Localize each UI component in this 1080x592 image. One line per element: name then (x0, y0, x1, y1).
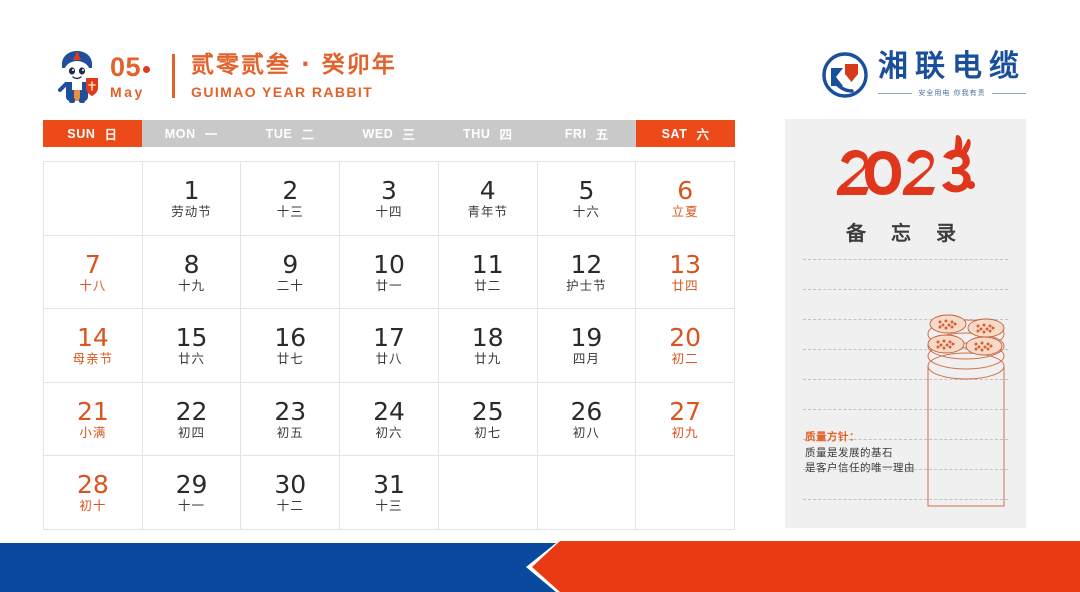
day-number: 1 (184, 178, 200, 203)
calendar-cell-empty (636, 456, 735, 530)
company-logo-group: 湘联电缆 安全用电 你我有责 (822, 52, 1026, 98)
day-number: 18 (472, 325, 504, 350)
calendar-day-cell[interactable]: 25初七 (439, 383, 538, 457)
weekday-header-sat: SAT六 (636, 120, 735, 147)
day-number: 13 (669, 252, 701, 277)
day-lunar-label: 十六 (573, 206, 600, 219)
calendar-cell-empty (439, 456, 538, 530)
calendar-day-cell[interactable]: 28初十 (44, 456, 143, 530)
calendar-day-cell[interactable]: 26初八 (538, 383, 637, 457)
day-number: 9 (282, 252, 298, 277)
year-title-cn: 贰零贰叁 · 癸卯年 (191, 54, 397, 77)
day-lunar-label: 护士节 (566, 280, 607, 293)
day-lunar-label: 青年节 (467, 206, 508, 219)
calendar-day-cell[interactable]: 14母亲节 (44, 309, 143, 383)
calendar-day-cell[interactable]: 31十三 (340, 456, 439, 530)
day-lunar-label: 廿一 (375, 280, 402, 293)
day-number: 26 (571, 399, 603, 424)
month-block: 05 May (110, 54, 150, 99)
calendar-day-cell[interactable]: 27初九 (636, 383, 735, 457)
day-number: 30 (274, 472, 306, 497)
day-lunar-label: 初七 (474, 427, 501, 440)
calendar-day-cell[interactable]: 15廿六 (143, 309, 242, 383)
weekday-header-sun: SUN日 (43, 120, 142, 147)
day-number: 4 (480, 178, 496, 203)
day-lunar-label: 二十 (277, 280, 304, 293)
page-header: 05 May 贰零贰叁 · 癸卯年 GUIMAO YEAR RABBIT 湘联电… (0, 0, 1080, 118)
day-number: 2 (282, 178, 298, 203)
day-lunar-label: 初十 (79, 500, 106, 513)
day-number: 7 (85, 252, 101, 277)
calendar-day-cell[interactable]: 18廿九 (439, 309, 538, 383)
memo-panel: 备 忘 录 (785, 119, 1026, 528)
day-lunar-label: 廿二 (474, 280, 501, 293)
memo-ruled-line[interactable] (803, 259, 1008, 289)
weekday-cn: 五 (596, 124, 609, 143)
day-number: 25 (472, 399, 504, 424)
day-lunar-label: 十九 (178, 280, 205, 293)
calendar: SUN日MON一TUE二WED三THU四FRI五SAT六 1劳动节2十三3十四4… (43, 120, 735, 530)
quality-policy-line-1: 质量是发展的基石 (805, 446, 915, 461)
calendar-day-grid: 1劳动节2十三3十四4青年节5十六6立夏7十八8十九9二十10廿一11廿二12护… (43, 161, 735, 530)
weekday-en: THU (463, 127, 491, 141)
weekday-cn: 三 (402, 124, 415, 143)
day-lunar-label: 十二 (277, 500, 304, 513)
memo-title: 备 忘 录 (785, 217, 1026, 246)
title-block: 贰零贰叁 · 癸卯年 GUIMAO YEAR RABBIT (191, 54, 397, 99)
weekday-cn: 一 (205, 124, 218, 143)
day-number: 15 (176, 325, 208, 350)
calendar-day-cell[interactable]: 9二十 (241, 236, 340, 310)
day-lunar-label: 十一 (178, 500, 205, 513)
weekday-cn: 二 (301, 124, 314, 143)
day-number: 24 (373, 399, 405, 424)
day-number: 23 (274, 399, 306, 424)
weekday-header-mon: MON一 (142, 120, 241, 147)
day-number: 10 (373, 252, 405, 277)
weekday-header-wed: WED三 (340, 120, 439, 147)
day-number: 27 (669, 399, 701, 424)
day-lunar-label: 初八 (573, 427, 600, 440)
weekday-header-row: SUN日MON一TUE二WED三THU四FRI五SAT六 (43, 120, 735, 147)
day-number: 8 (184, 252, 200, 277)
slogan-rule-right (992, 93, 1026, 94)
weekday-header-thu: THU四 (438, 120, 537, 147)
day-number: 22 (176, 399, 208, 424)
day-number: 11 (472, 252, 504, 277)
day-number: 6 (677, 178, 693, 203)
calendar-day-cell[interactable]: 19四月 (538, 309, 637, 383)
company-slogan: 安全用电 你我有责 (918, 88, 985, 98)
footer-right-band (532, 541, 1080, 592)
mascot-shield-character-icon (52, 48, 104, 104)
weekday-en: MON (165, 127, 196, 141)
day-number: 31 (373, 472, 405, 497)
calendar-day-cell[interactable]: 11廿二 (439, 236, 538, 310)
calendar-day-cell[interactable]: 4青年节 (439, 162, 538, 236)
day-lunar-label: 廿六 (178, 353, 205, 366)
calendar-day-cell[interactable]: 30十二 (241, 456, 340, 530)
day-lunar-label: 初九 (672, 427, 699, 440)
calendar-day-cell[interactable]: 10廿一 (340, 236, 439, 310)
brand-left-group: 05 May 贰零贰叁 · 癸卯年 GUIMAO YEAR RABBIT (52, 48, 397, 104)
calendar-day-cell[interactable]: 22初四 (143, 383, 242, 457)
weekday-cn: 四 (500, 124, 513, 143)
company-slogan-row: 安全用电 你我有责 (878, 88, 1026, 98)
calendar-day-cell[interactable]: 7十八 (44, 236, 143, 310)
calendar-day-cell[interactable]: 5十六 (538, 162, 637, 236)
four-core-copper-cable-icon (912, 308, 1020, 514)
day-lunar-label: 廿四 (672, 280, 699, 293)
day-lunar-label: 十三 (277, 206, 304, 219)
header-divider (172, 54, 175, 98)
year-2023-rabbit-calligraphy-icon (785, 133, 1026, 205)
footer-bar (0, 537, 1080, 592)
day-lunar-label: 立夏 (672, 206, 699, 219)
calendar-cell-empty (538, 456, 637, 530)
day-lunar-label: 廿八 (375, 353, 402, 366)
weekday-header-tue: TUE二 (241, 120, 340, 147)
day-number: 19 (571, 325, 603, 350)
day-lunar-label: 劳动节 (171, 206, 212, 219)
day-lunar-label: 小满 (79, 427, 106, 440)
calendar-day-cell[interactable]: 21小满 (44, 383, 143, 457)
weekday-cn: 日 (104, 124, 117, 143)
calendar-cell-empty (44, 162, 143, 236)
calendar-day-cell[interactable]: 6立夏 (636, 162, 735, 236)
day-lunar-label: 廿九 (474, 353, 501, 366)
calendar-day-cell[interactable]: 12护士节 (538, 236, 637, 310)
calendar-day-cell[interactable]: 24初六 (340, 383, 439, 457)
month-name: May (110, 85, 150, 99)
day-lunar-label: 四月 (573, 353, 600, 366)
calendar-day-cell[interactable]: 8十九 (143, 236, 242, 310)
weekday-en: WED (362, 127, 393, 141)
year-title-en: GUIMAO YEAR RABBIT (191, 85, 397, 99)
quality-policy-heading: 质量方针： (805, 430, 915, 445)
weekday-en: TUE (266, 127, 293, 141)
day-lunar-label: 十三 (375, 500, 402, 513)
company-name-cn: 湘联电缆 (878, 52, 1026, 82)
calendar-day-cell[interactable]: 23初五 (241, 383, 340, 457)
weekday-cn: 六 (696, 124, 709, 143)
month-dot-icon (143, 66, 150, 73)
xianglian-cable-logo-icon (822, 52, 868, 98)
day-lunar-label: 十八 (79, 280, 106, 293)
weekday-header-fri: FRI五 (537, 120, 636, 147)
calendar-day-cell[interactable]: 2十三 (241, 162, 340, 236)
slogan-rule-left (878, 93, 912, 94)
day-number: 28 (77, 472, 109, 497)
day-lunar-label: 廿七 (277, 353, 304, 366)
day-number: 17 (373, 325, 405, 350)
day-lunar-label: 初六 (375, 427, 402, 440)
day-lunar-label: 初二 (672, 353, 699, 366)
month-number: 05 (110, 54, 141, 81)
quality-policy-block: 质量方针： 质量是发展的基石 是客户信任的唯一理由 (805, 430, 915, 476)
day-lunar-label: 初四 (178, 427, 205, 440)
weekday-en: FRI (565, 127, 587, 141)
calendar-day-cell[interactable]: 29十一 (143, 456, 242, 530)
day-number: 29 (176, 472, 208, 497)
day-lunar-label: 十四 (375, 206, 402, 219)
day-number: 12 (571, 252, 603, 277)
calendar-day-cell[interactable]: 16廿七 (241, 309, 340, 383)
day-number: 14 (77, 325, 109, 350)
day-lunar-label: 母亲节 (73, 353, 114, 366)
day-number: 3 (381, 178, 397, 203)
day-lunar-label: 初五 (277, 427, 304, 440)
calendar-day-cell[interactable]: 1劳动节 (143, 162, 242, 236)
footer-left-band (0, 543, 556, 592)
calendar-day-cell[interactable]: 13廿四 (636, 236, 735, 310)
calendar-day-cell[interactable]: 17廿八 (340, 309, 439, 383)
weekday-en: SUN (67, 127, 95, 141)
quality-policy-line-2: 是客户信任的唯一理由 (805, 461, 915, 476)
day-number: 5 (578, 178, 594, 203)
calendar-day-cell[interactable]: 20初二 (636, 309, 735, 383)
calendar-day-cell[interactable]: 3十四 (340, 162, 439, 236)
weekday-en: SAT (662, 127, 688, 141)
day-number: 16 (274, 325, 306, 350)
day-number: 21 (77, 399, 109, 424)
day-number: 20 (669, 325, 701, 350)
